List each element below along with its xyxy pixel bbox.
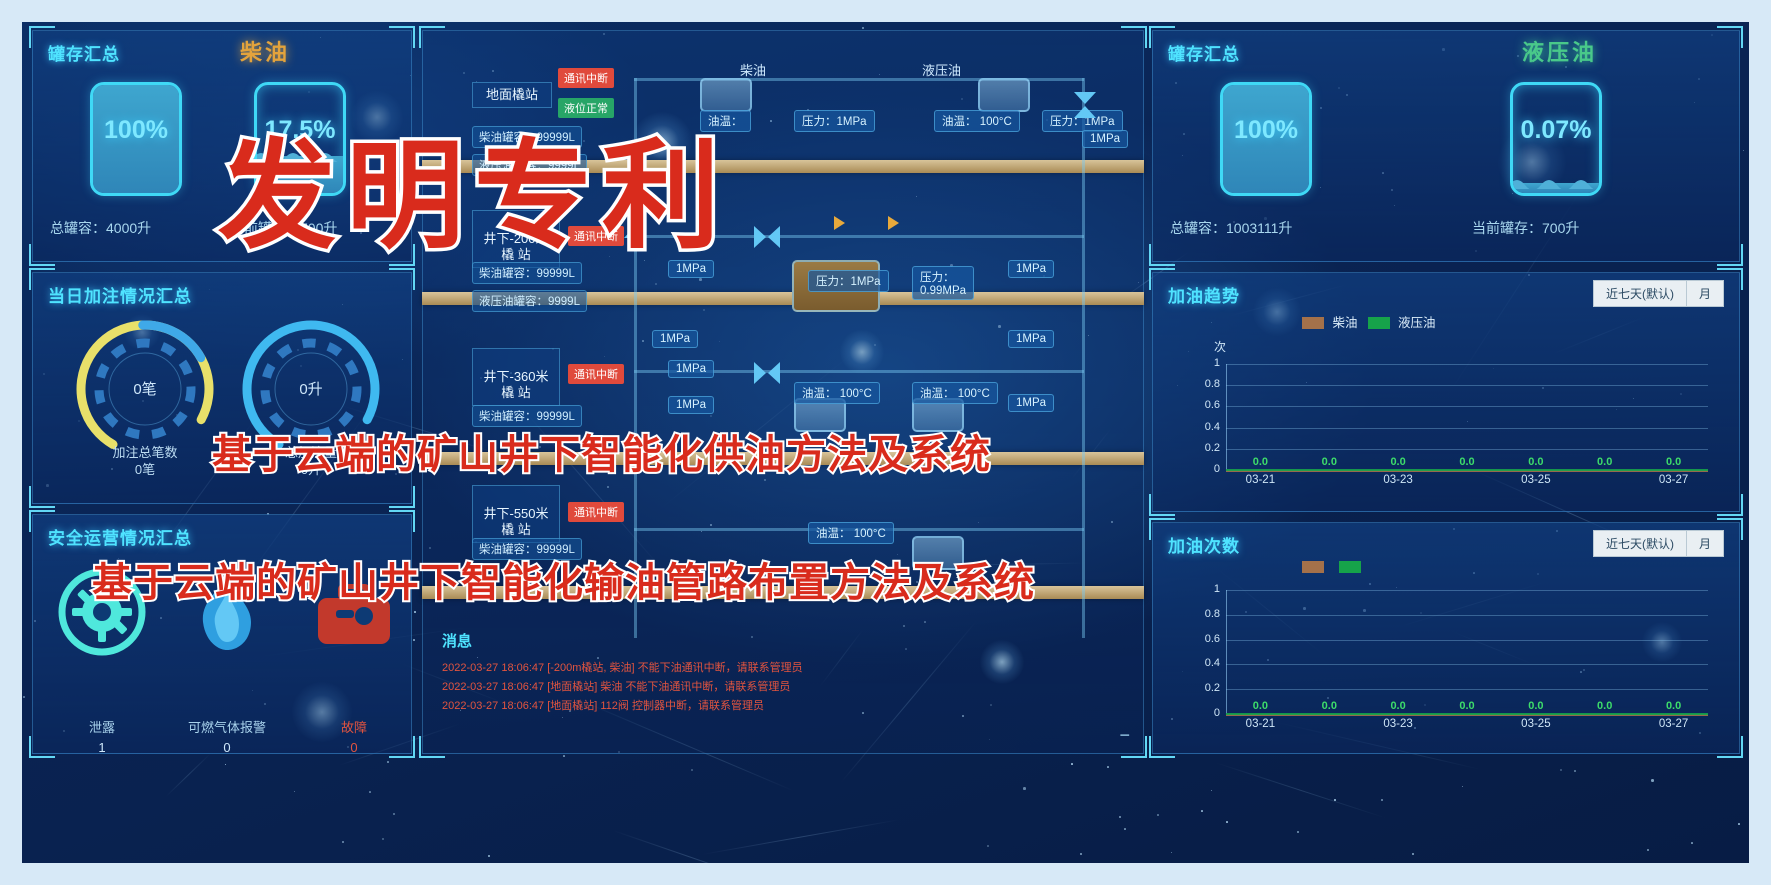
range-selector-trend[interactable]: 近七天(默认) 月 xyxy=(1593,280,1724,307)
chart-gridline xyxy=(1226,615,1708,616)
station-status-550m-comm: 通讯中断 xyxy=(568,502,624,522)
chart-ytick: 0.2 xyxy=(1192,682,1220,694)
message-log-line: 2022-03-27 18:06:47 [地面橇站] 112阀 控制器中断，请联… xyxy=(442,697,1122,716)
dashboard-root: 罐存汇总 柴油 100% 总罐容：4000升 17.5% 当前罐存：700升 xyxy=(0,0,1771,885)
chart-data-label: 0.0 xyxy=(1313,700,1345,712)
corner-top-right-icon xyxy=(1121,26,1147,48)
corner-bottom-left-icon xyxy=(29,486,55,508)
station-status-360m-comm: 通讯中断 xyxy=(568,364,624,384)
star-dot xyxy=(691,769,693,771)
station-status-surface-comm: 通讯中断 xyxy=(558,68,614,88)
star-dot xyxy=(1023,787,1026,790)
tank-total-percent: 100% xyxy=(90,116,182,145)
safety-label-fault: 故障 xyxy=(294,717,414,736)
chart-xtick: 03-21 xyxy=(1238,718,1282,730)
pressure-tag-8: 1MPa xyxy=(668,396,714,414)
star-dot xyxy=(1574,770,1576,772)
gauge-refuel-count-value: 0笔 xyxy=(70,378,220,399)
corner-bottom-left-icon xyxy=(1149,494,1175,516)
star-dot xyxy=(1201,810,1203,812)
tank-total-capacity-label: 总罐容：4000升 xyxy=(50,218,151,238)
corner-top-left-icon xyxy=(419,26,445,48)
range-button-seven-days[interactable]: 近七天(默认) xyxy=(1594,281,1686,306)
range-button-month[interactable]: 月 xyxy=(1686,281,1723,306)
pressure-tag-4: 1MPa xyxy=(652,330,698,348)
legend-label-hydraulic: 液压油 xyxy=(1398,316,1436,330)
legend-item-diesel xyxy=(1302,560,1329,574)
minimize-icon[interactable]: − xyxy=(1119,725,1130,746)
range-selector-count[interactable]: 近七天(默认) 月 xyxy=(1593,530,1724,557)
chart-gridline xyxy=(1226,385,1708,386)
message-log-line: 2022-03-27 18:06:47 [-200m橇站, 柴油] 不能下油通讯… xyxy=(442,659,1122,678)
chart-ytick: 0.6 xyxy=(1192,399,1220,411)
message-log-line: 2022-03-27 18:06:47 [地面橇站] 柴油 不能下油通讯中断，请… xyxy=(442,678,1122,697)
safety-value-gas-alarm: 0 xyxy=(167,740,287,755)
chart-ytick: 0.2 xyxy=(1192,442,1220,454)
star-dot xyxy=(1381,799,1383,801)
light-streak xyxy=(1215,762,1387,819)
light-streak xyxy=(702,819,899,855)
star-dot xyxy=(414,611,416,613)
dashboard-stage: 罐存汇总 柴油 100% 总罐容：4000升 17.5% 当前罐存：700升 xyxy=(22,22,1749,863)
range-button-month[interactable]: 月 xyxy=(1686,531,1723,556)
panel-title: 罐存汇总 xyxy=(1168,40,1240,65)
gauge-refuel-count: 0笔 xyxy=(70,314,220,464)
corner-bottom-left-icon xyxy=(1149,244,1175,266)
legend-label-diesel: 柴油 xyxy=(1332,316,1357,330)
panel-title: 加油趋势 xyxy=(1168,282,1240,307)
diagram-label-hydraulic: 液压油 xyxy=(922,60,961,79)
corner-bottom-left-icon xyxy=(1149,736,1175,758)
star-dot xyxy=(1107,766,1109,768)
watermark-main: 发明专利 xyxy=(218,100,730,271)
pressure-tag-7: 1MPa xyxy=(1008,394,1054,412)
chart-ytick: 1 xyxy=(1192,583,1220,595)
star-dot xyxy=(1080,853,1082,855)
corner-bottom-left-icon xyxy=(419,736,445,758)
flow-arrow-icon-1 xyxy=(834,216,845,230)
chart-data-label: 0.0 xyxy=(1520,700,1552,712)
chart-ytick: 0.4 xyxy=(1192,421,1220,433)
corner-top-right-icon xyxy=(1717,26,1743,48)
star-dot xyxy=(342,841,344,843)
chart-data-label: 0.0 xyxy=(1451,700,1483,712)
star-dot xyxy=(1560,769,1562,771)
star-dot xyxy=(1651,779,1654,782)
star-dot xyxy=(387,761,389,763)
star-dot xyxy=(1297,831,1299,833)
chart-xtick: 03-25 xyxy=(1514,718,1558,730)
chart-xtick: 03-23 xyxy=(1376,474,1420,486)
readout-oil-temp-2: 油温： 100°C xyxy=(934,110,1020,132)
chart-ytick: 0.8 xyxy=(1192,608,1220,620)
light-streak xyxy=(166,753,211,797)
panel-title: 加油次数 xyxy=(1168,532,1240,557)
chart-gridline xyxy=(1226,590,1708,591)
star-dot xyxy=(1412,853,1414,855)
corner-bottom-right-icon xyxy=(389,486,415,508)
corner-top-right-icon xyxy=(389,510,415,532)
chart-xtick: 03-21 xyxy=(1238,474,1282,486)
panel-refuel-count: 加油次数 近七天(默认) 月 10.80.60.40.200.00.00.00.… xyxy=(1152,522,1740,754)
star-dot xyxy=(294,791,295,792)
chart-data-label: 0.0 xyxy=(1244,456,1276,468)
station-name-360m: 井下-360米 橇 站 xyxy=(483,369,548,400)
message-log-title: 消息 xyxy=(442,630,1122,651)
star-dot xyxy=(369,791,371,793)
star-dot xyxy=(1157,814,1159,816)
star-dot xyxy=(1226,821,1228,823)
star-dot xyxy=(1124,828,1126,830)
valve-icon-4[interactable] xyxy=(1072,90,1098,120)
message-log: 消息 2022-03-27 18:06:47 [-200m橇站, 柴油] 不能下… xyxy=(442,630,1122,716)
chart-data-label: 0.0 xyxy=(1313,456,1345,468)
star-dot xyxy=(1743,150,1744,151)
tank-fill-current xyxy=(1513,183,1599,193)
range-button-seven-days[interactable]: 近七天(默认) xyxy=(1594,531,1686,556)
panel-title: 当日加注情况汇总 xyxy=(48,282,192,307)
chart-ytick: 0.6 xyxy=(1192,633,1220,645)
tank-total-capacity-label: 总罐容：1003111升 xyxy=(1170,218,1292,238)
panel-right-tank-summary: 罐存汇总 液压油 100% 总罐容：1003111升 0.07% 当前罐存：70… xyxy=(1152,30,1740,262)
station-name-550m: 井下-550米 橇 站 xyxy=(483,506,548,537)
chart-gridline xyxy=(1226,664,1708,665)
safety-value-fault: 0 xyxy=(294,740,414,755)
chart-legend-trend: 柴油 液压油 xyxy=(1302,312,1436,331)
star-dot xyxy=(1691,842,1693,844)
safety-label-leak: 泄露 xyxy=(42,717,162,736)
star-dot xyxy=(488,855,490,857)
legend-swatch-hydraulic xyxy=(1339,561,1361,573)
chart-ytick: 0 xyxy=(1192,463,1220,475)
corner-bottom-right-icon xyxy=(1717,736,1743,758)
legend-item-diesel: 柴油 xyxy=(1302,312,1358,331)
star-dot xyxy=(1462,786,1463,787)
panel-title: 罐存汇总 xyxy=(48,40,120,65)
chart-data-label: 0.0 xyxy=(1451,456,1483,468)
star-dot xyxy=(987,845,989,847)
star-dot xyxy=(382,838,384,840)
station-card-360m[interactable]: 井下-360米 橇 站 xyxy=(472,348,560,406)
panel-refuel-trend: 加油趋势 近七天(默认) 月 柴油 液压油 次 10.80.60.40.200.… xyxy=(1152,272,1740,512)
station-card-550m[interactable]: 井下-550米 橇 站 xyxy=(472,485,560,543)
chart-xtick: 03-27 xyxy=(1652,474,1696,486)
pressure-tag-2: 1MPa xyxy=(1082,130,1128,148)
watermark-line-1: 基于云端的矿山井下智能化供油方法及系统 xyxy=(212,422,991,480)
readout-oil-temp-3: 油温： 100°C xyxy=(794,382,880,404)
chart-gridline xyxy=(1226,428,1708,429)
chart-yaxis xyxy=(1226,590,1227,714)
chart-ytick: 1 xyxy=(1192,357,1220,369)
product-label-hydraulic: 液压油 xyxy=(1522,35,1597,67)
readout-oil-temp-5: 油温： 100°C xyxy=(808,522,894,544)
pipe-main-vertical-right xyxy=(1082,78,1085,638)
legend-item-hydraulic: 液压油 xyxy=(1368,312,1436,331)
readout-pressure-3: 压力：1MPa xyxy=(808,270,889,292)
tank-current-stock-label: 当前罐存：700升 xyxy=(1472,218,1579,238)
chart-ytick: 0.8 xyxy=(1192,378,1220,390)
star-dot xyxy=(1647,849,1649,851)
star-dot xyxy=(1211,790,1212,791)
corner-top-right-icon xyxy=(389,268,415,290)
star-dot xyxy=(1071,763,1073,765)
star-dot xyxy=(225,764,226,765)
chart-data-label: 0.0 xyxy=(1382,456,1414,468)
legend-swatch-hydraulic xyxy=(1368,317,1390,329)
star-dot xyxy=(23,696,25,698)
tank-total-percent: 100% xyxy=(1220,116,1312,145)
gauge-refuel-volume-value: 0升 xyxy=(236,378,386,399)
tank-current-percent: 0.07% xyxy=(1510,116,1602,145)
watermark-line-2: 基于云端的矿山井下智能化输油管路布置方法及系统 xyxy=(92,550,1035,608)
chart-xtick: 03-27 xyxy=(1652,718,1696,730)
chart-ylabel-trend: 次 xyxy=(1214,338,1226,355)
star-dot xyxy=(563,755,565,757)
gauge-caption-line1: 加注总笔数 xyxy=(70,444,220,461)
star-dot xyxy=(862,27,864,29)
chart-yaxis xyxy=(1226,364,1227,470)
star-dot xyxy=(1171,852,1172,853)
chart-gridline xyxy=(1226,406,1708,407)
corner-bottom-right-icon xyxy=(1717,244,1743,266)
chart-gridline xyxy=(1226,640,1708,641)
chart-gridline xyxy=(1226,689,1708,690)
chart-data-label: 0.0 xyxy=(1520,456,1552,468)
readout-oil-temp-4: 油温： 100°C xyxy=(912,382,998,404)
chart-data-label: 0.0 xyxy=(1244,700,1276,712)
product-label-diesel: 柴油 xyxy=(240,35,290,67)
chart-data-label: 0.0 xyxy=(1658,456,1690,468)
chart-xtick: 03-23 xyxy=(1376,718,1420,730)
safety-value-leak: 1 xyxy=(42,740,162,755)
corner-top-right-icon xyxy=(389,26,415,48)
pressure-tag-5: 1MPa xyxy=(668,360,714,378)
diagram-label-diesel: 柴油 xyxy=(740,60,766,79)
safety-label-gas-alarm: 可燃气体报警 xyxy=(167,717,287,736)
chart-ytick: 0 xyxy=(1192,707,1220,719)
chart-data-label: 0.0 xyxy=(1589,456,1621,468)
readout-pressure-1: 压力：1MPa xyxy=(794,110,875,132)
chart-data-label: 0.0 xyxy=(1382,700,1414,712)
chart-data-label: 0.0 xyxy=(1589,700,1621,712)
legend-swatch-diesel xyxy=(1302,561,1324,573)
chart-ytick: 0.4 xyxy=(1192,657,1220,669)
gauge-refuel-count-caption: 加注总笔数 0笔 xyxy=(70,444,220,478)
chart-data-label: 0.0 xyxy=(1658,700,1690,712)
chart-legend-count xyxy=(1302,560,1366,574)
valve-icon-2[interactable] xyxy=(752,224,782,250)
station-field-200m-hydraulic: 液压油罐容：9999L xyxy=(472,290,587,312)
flow-arrow-icon-2 xyxy=(888,216,899,230)
chart-plot-trend: 10.80.60.40.200.00.00.00.00.00.00.003-21… xyxy=(1192,358,1722,490)
tank-wave-icon xyxy=(1510,175,1602,189)
corner-bottom-left-icon xyxy=(29,244,55,266)
legend-item-hydraulic xyxy=(1339,560,1366,574)
chart-xtick: 03-25 xyxy=(1514,474,1558,486)
chart-series-line xyxy=(1226,713,1708,715)
panel-title: 安全运营情况汇总 xyxy=(48,524,192,549)
chart-gridline xyxy=(1226,364,1708,365)
star-dot xyxy=(1119,816,1121,818)
chart-series-line xyxy=(1226,469,1708,471)
pressure-tag-6: 1MPa xyxy=(1008,330,1054,348)
legend-swatch-diesel xyxy=(1302,317,1324,329)
star-dot xyxy=(1738,823,1740,825)
readout-pressure-4: 压力： 0.99MPa xyxy=(912,266,974,300)
star-dot xyxy=(393,813,395,815)
corner-bottom-right-icon xyxy=(1717,494,1743,516)
pressure-tag-3: 1MPa xyxy=(1008,260,1054,278)
chart-plot-count: 10.80.60.40.200.00.00.00.00.00.00.003-21… xyxy=(1192,584,1722,734)
vessel-hydraulic-top xyxy=(978,78,1030,112)
valve-icon-3[interactable] xyxy=(752,360,782,386)
gauge-caption-line2: 0笔 xyxy=(70,461,220,478)
chart-gridline xyxy=(1226,449,1708,450)
